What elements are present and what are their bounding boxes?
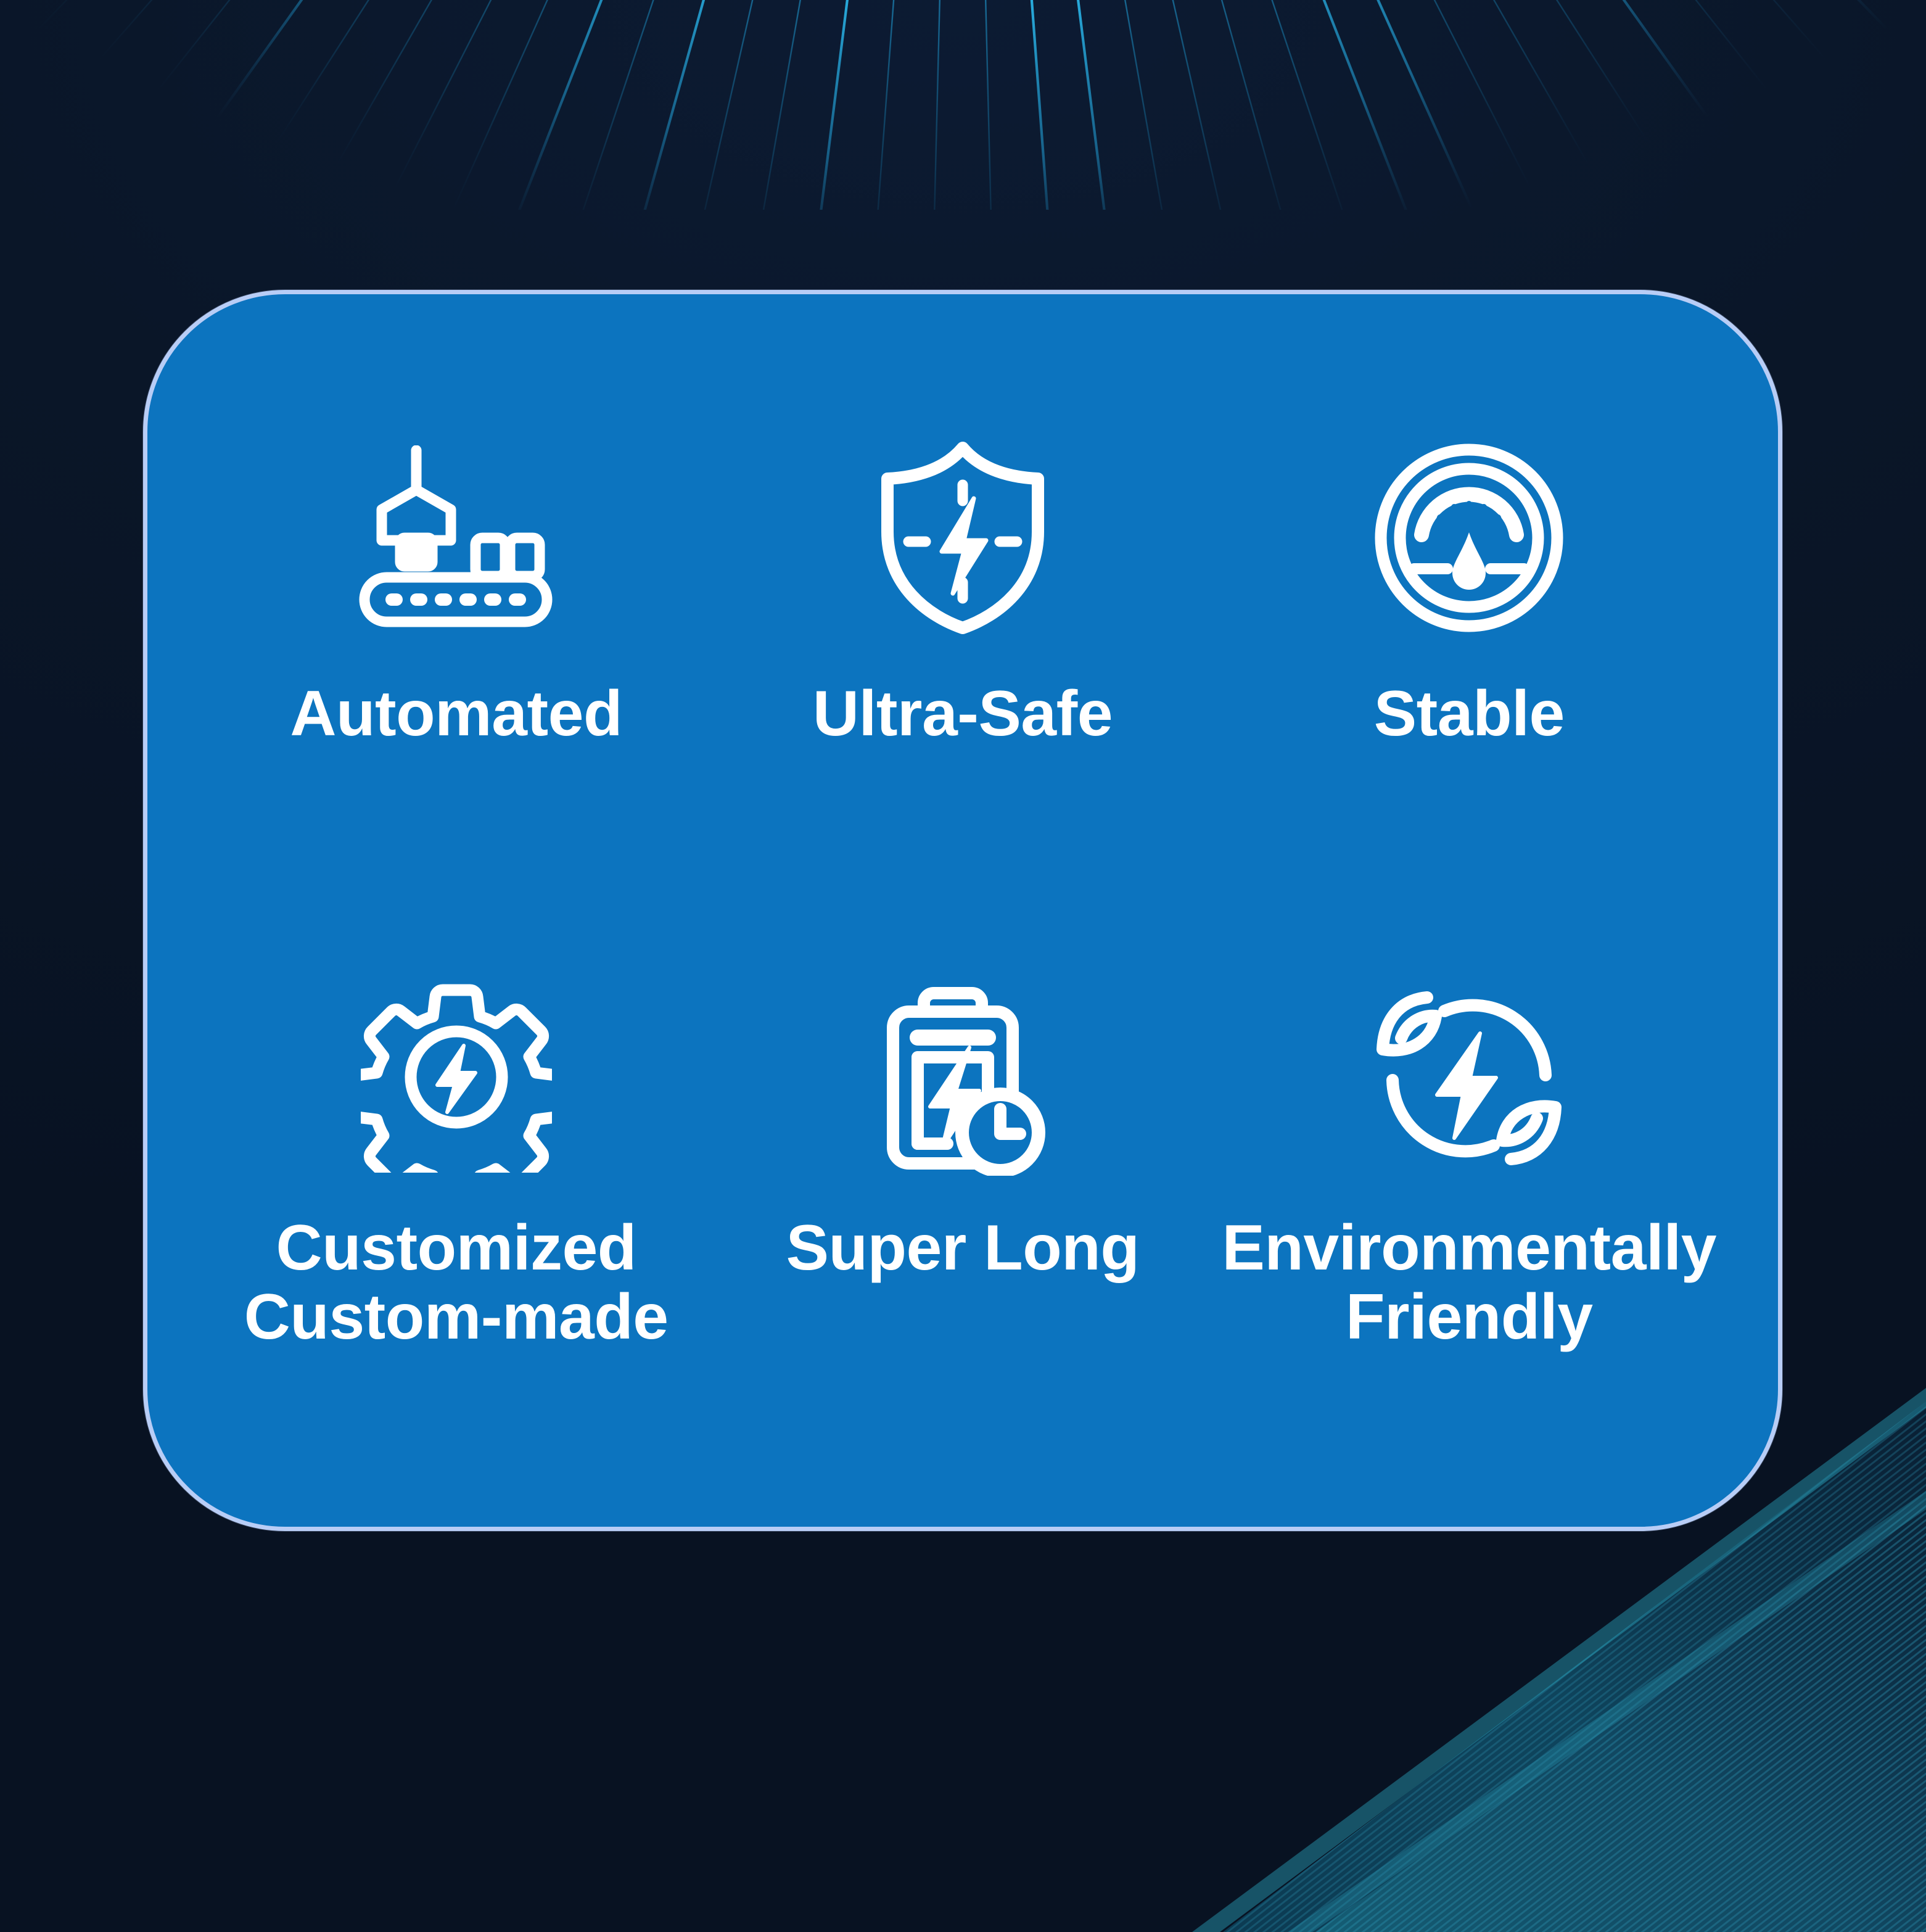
- eco-recycle-lightning-icon: [1358, 975, 1580, 1179]
- page-root: Automated: [0, 0, 1926, 1932]
- shield-lightning-icon: [852, 436, 1074, 640]
- feature-item-stable[interactable]: Stable: [1216, 331, 1722, 907]
- gauge-meter-icon: [1358, 436, 1580, 640]
- feature-card: Automated: [143, 290, 1782, 1531]
- feature-label: Environmentally Friendly: [1222, 1213, 1717, 1352]
- feature-label: Ultra-Safe: [813, 679, 1113, 748]
- gear-lightning-icon: [345, 975, 567, 1179]
- feature-item-ultra-safe[interactable]: Ultra-Safe: [709, 331, 1216, 907]
- feature-item-automated[interactable]: Automated: [203, 331, 709, 907]
- feature-label: Automated: [290, 679, 622, 748]
- robot-arm-conveyor-icon: [345, 436, 567, 640]
- feature-label: Stable: [1374, 679, 1565, 748]
- feature-label: Customized Custom-made: [244, 1213, 669, 1352]
- feature-label: Super Long: [786, 1213, 1140, 1282]
- feature-item-customized[interactable]: Customized Custom-made: [203, 907, 709, 1484]
- feature-grid: Automated: [147, 294, 1778, 1527]
- feature-item-super-long[interactable]: Super Long: [709, 907, 1216, 1484]
- radiating-rays-decoration: [0, 0, 1926, 210]
- feature-item-eco[interactable]: Environmentally Friendly: [1216, 907, 1722, 1484]
- battery-clock-icon: [852, 975, 1074, 1179]
